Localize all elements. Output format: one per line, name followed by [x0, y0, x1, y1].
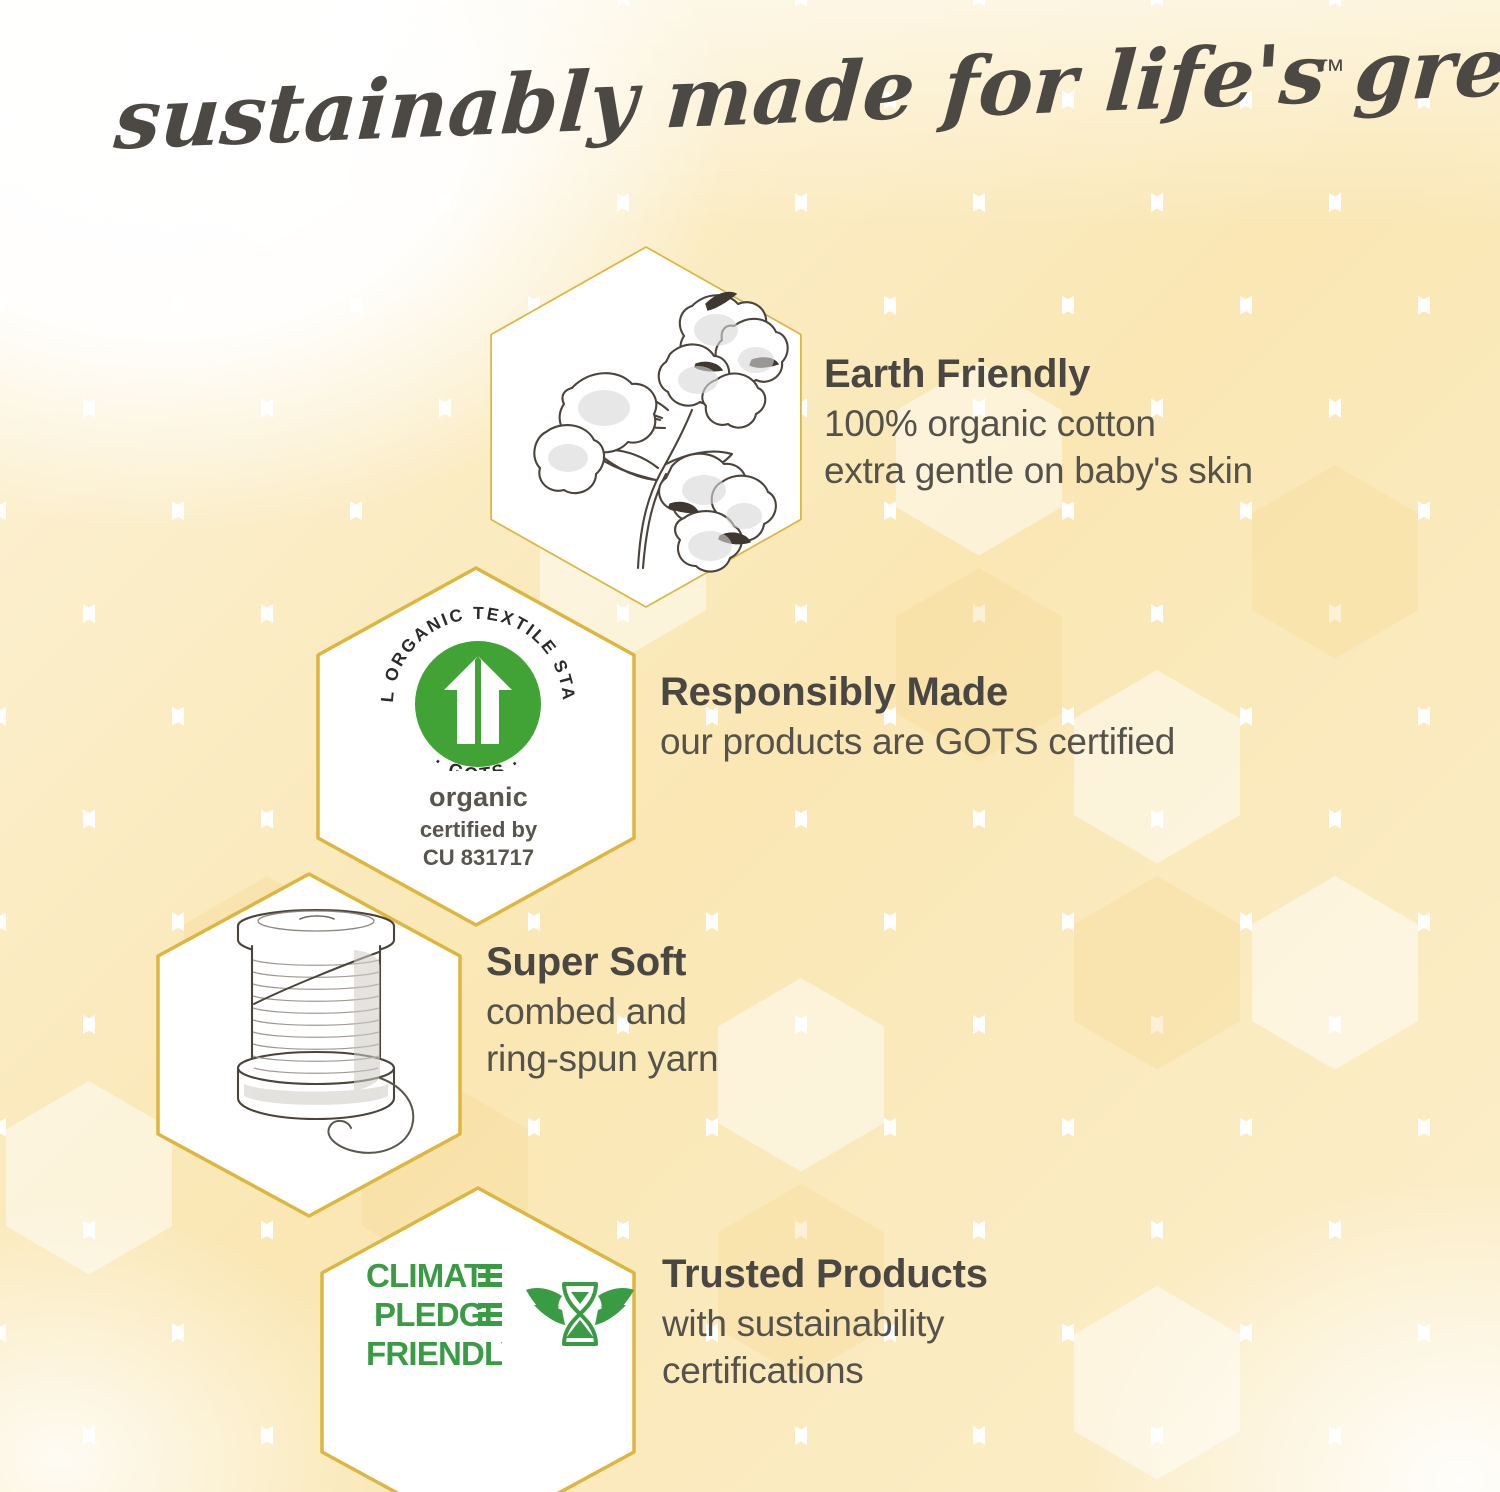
winged-hourglass-icon — [524, 1266, 636, 1366]
feature-text-trusted-products: Trusted Products with sustainability cer… — [662, 1252, 988, 1395]
feature-line-super-soft-2: ring-spun yarn — [486, 1035, 718, 1082]
gots-seal-icon: GLOBAL ORGANIC TEXTILE STANDARD · GOTS · — [356, 586, 601, 771]
feature-line-super-soft-1: combed and — [486, 988, 718, 1035]
gots-organic-label: organic — [356, 782, 601, 813]
climate-pledge-friendly-badge: CLIMATE PLEDGE FRIENDLY — [366, 1258, 636, 1374]
headline: sustainably made for life's greatest joy… — [0, 44, 1500, 159]
feature-title-responsibly-made: Responsibly Made — [660, 670, 1175, 715]
trademark-symbol: ™ — [1315, 54, 1345, 87]
feature-line-earth-friendly-2: extra gentle on baby's skin — [824, 447, 1253, 494]
feature-title-super-soft: Super Soft — [486, 940, 718, 985]
gots-certifier-code: CU 831717 — [356, 845, 601, 872]
feature-text-super-soft: Super Soft combed and ring-spun yarn — [486, 940, 718, 1083]
feature-title-earth-friendly: Earth Friendly — [824, 352, 1253, 397]
feature-text-earth-friendly: Earth Friendly 100% organic cotton extra… — [824, 352, 1253, 495]
sustainability-infographic: sustainably made for life's greatest joy… — [0, 0, 1500, 1492]
feature-line-trusted-products-1: with sustainability — [662, 1300, 988, 1347]
cpf-line-3: FRIENDLY — [366, 1335, 502, 1372]
cotton-branch-icon — [520, 268, 790, 583]
feature-line-trusted-products-2: certifications — [662, 1347, 988, 1394]
gots-certified-by-label: certified by — [356, 817, 601, 844]
feature-text-responsibly-made: Responsibly Made our products are GOTS c… — [660, 670, 1175, 765]
feature-title-trusted-products: Trusted Products — [662, 1252, 988, 1297]
gots-certification-badge: GLOBAL ORGANIC TEXTILE STANDARD · GOTS ·… — [356, 586, 601, 872]
climate-pledge-wordmark: CLIMATE PLEDGE FRIENDLY — [366, 1258, 502, 1374]
feature-line-earth-friendly-1: 100% organic cotton — [824, 400, 1253, 447]
thread-spool-icon — [196, 888, 446, 1183]
feature-line-responsibly-made-1: our products are GOTS certified — [660, 718, 1175, 765]
